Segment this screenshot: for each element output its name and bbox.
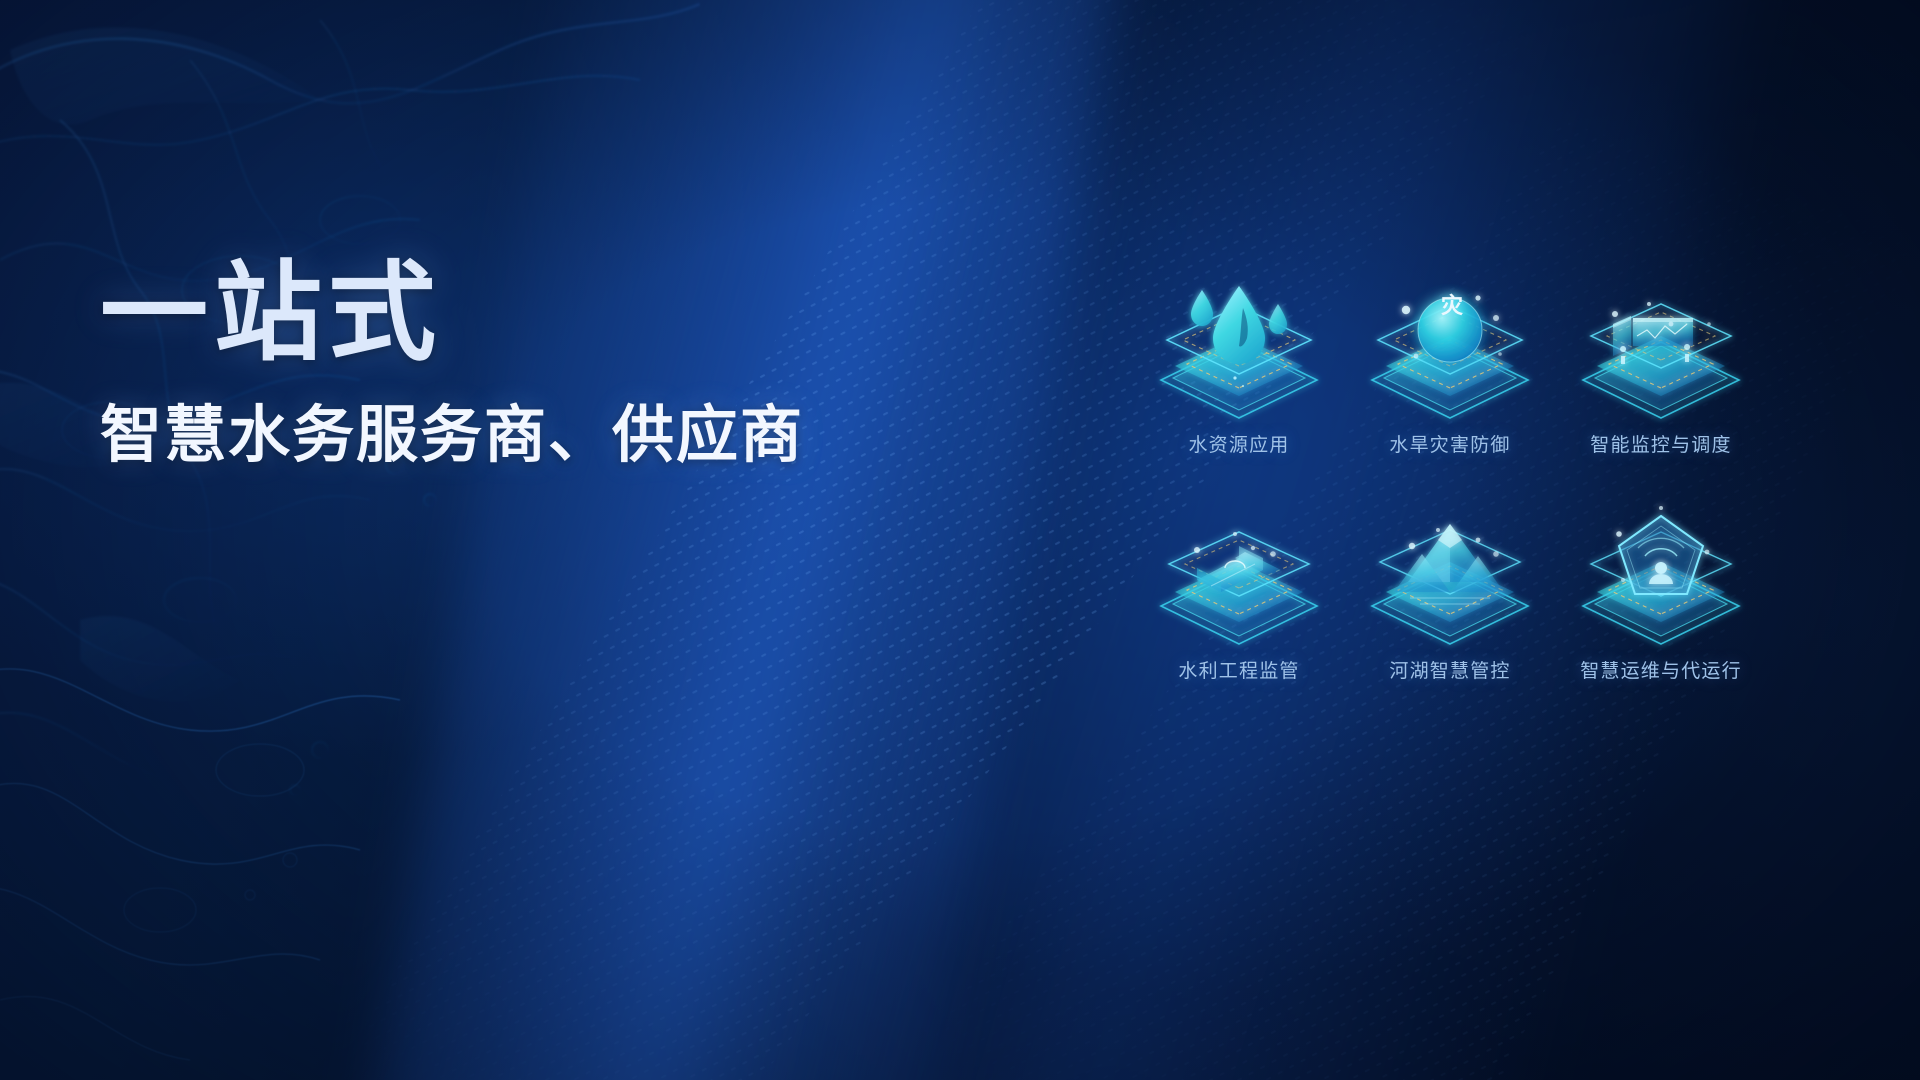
dam-gate-platform-icon [1139, 494, 1339, 654]
feature-item-smart-ops-operation[interactable]: 智慧运维与代运行 [1557, 492, 1765, 716]
mountain-river-platform-icon [1350, 494, 1550, 654]
disaster-sphere-platform-icon: 灾 [1350, 268, 1550, 428]
hero-copy: 一站式 智慧水务服务商、供应商 [100, 258, 804, 470]
feature-item-river-lake-smart-control[interactable]: 河湖智慧管控 [1346, 492, 1554, 716]
feature-item-water-project-supervision[interactable]: 水利工程监管 [1135, 492, 1343, 716]
shield-pentagon-platform-icon [1561, 494, 1761, 654]
water-droplet-platform-icon [1139, 268, 1339, 428]
feature-label: 水利工程监管 [1178, 656, 1299, 683]
light-band-primary [338, 0, 1145, 1080]
feature-item-flood-drought-defense[interactable]: 灾 水旱灾害防御 [1346, 268, 1554, 492]
feature-label: 水旱灾害防御 [1389, 430, 1510, 457]
feature-label: 智慧运维与代运行 [1580, 656, 1742, 683]
feature-item-water-resource-application[interactable]: 水资源应用 [1135, 268, 1343, 492]
hero-banner: 一站式 智慧水务服务商、供应商 [0, 0, 1920, 1080]
hero-subheadline: 智慧水务服务商、供应商 [100, 402, 804, 470]
feature-item-smart-monitor-dispatch[interactable]: 智能监控与调度 [1557, 268, 1765, 492]
feature-label: 水资源应用 [1188, 430, 1289, 457]
hero-headline: 一站式 [100, 258, 804, 368]
monitor-screen-platform-icon [1561, 268, 1761, 428]
feature-grid: 水资源应用 [1135, 268, 1765, 716]
feature-label: 智能监控与调度 [1590, 430, 1731, 457]
feature-label: 河湖智慧管控 [1389, 656, 1510, 683]
ink-swirl-bottom-left [0, 560, 580, 1080]
